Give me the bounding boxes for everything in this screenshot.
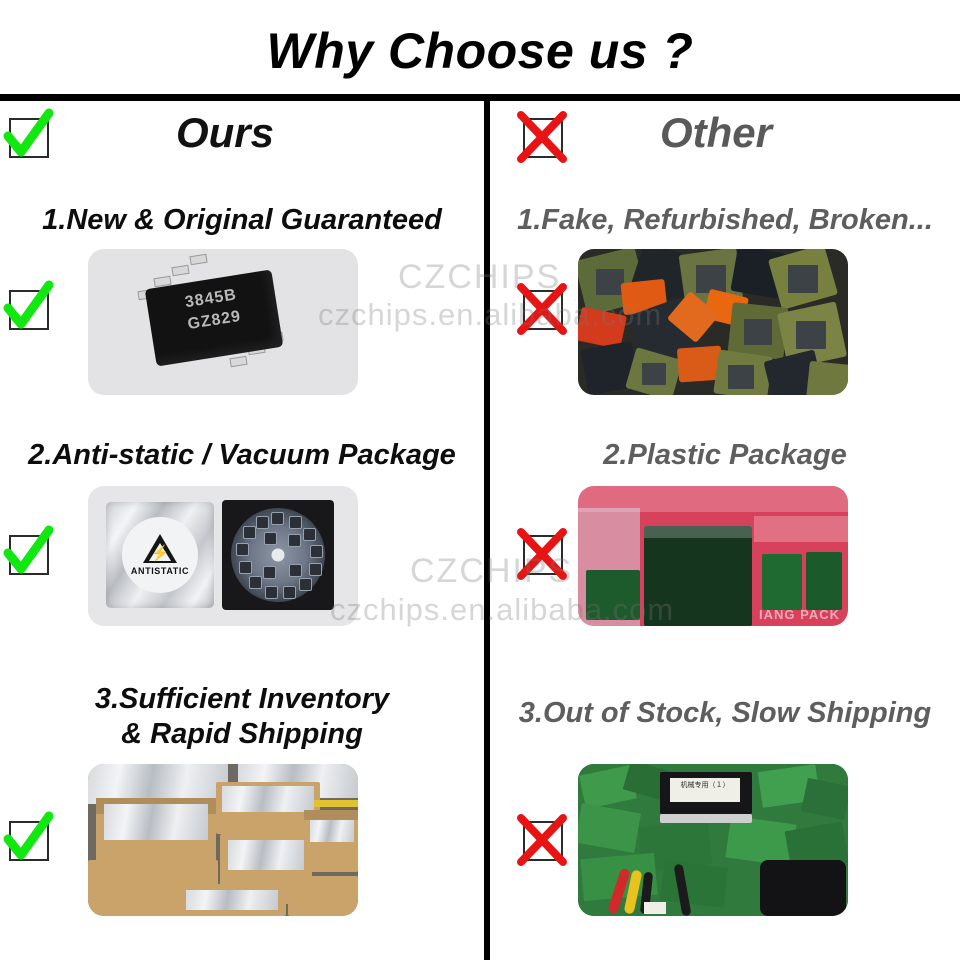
cross-glyph [516, 283, 568, 335]
antistatic-bag: ⚡ ANTISTATIC [106, 502, 214, 608]
ours-item-3-line-1: 3.Sufficient Inventory [0, 683, 484, 715]
check-glyph [2, 111, 54, 163]
top-divider-rule [0, 94, 960, 101]
photo-genuine-chip: 3845B GZ829 [88, 249, 358, 395]
photo-inventory-boxes [88, 764, 358, 916]
module-label: 机械专用（１） [670, 778, 740, 802]
photo-scrap-chips [578, 249, 848, 395]
check-glyph [2, 283, 54, 335]
cross-mark-icon [516, 283, 568, 335]
comparison-infographic: Why Choose us ? Ours 1.New & Original Gu… [0, 0, 960, 960]
check-glyph [2, 814, 54, 866]
check-mark-icon [2, 283, 54, 335]
check-mark-icon [2, 814, 54, 866]
cross-glyph [516, 528, 568, 580]
column-heading-ours: Ours [0, 109, 484, 157]
package-print-text: IANG PACK [759, 607, 840, 622]
photo-scrap-pcbs: 机械专用（１） [578, 764, 848, 916]
cross-mark-icon [516, 111, 568, 163]
other-item-3-text: 3.Out of Stock, Slow Shipping [490, 697, 960, 729]
reel-disc [231, 508, 325, 602]
page-title: Why Choose us ? [0, 22, 960, 80]
antistatic-caption: ANTISTATIC [131, 566, 189, 576]
ours-item-1-text: 1.New & Original Guaranteed [0, 204, 484, 236]
photo-plastic-package: IANG PACK [578, 486, 848, 626]
other-item-1-text: 1.Fake, Refurbished, Broken... [490, 204, 960, 236]
other-item-2-text: 2.Plastic Package [490, 439, 960, 471]
check-glyph [2, 528, 54, 580]
cross-mark-icon [516, 528, 568, 580]
check-mark-icon [2, 111, 54, 163]
cross-glyph [516, 814, 568, 866]
reel-hub [272, 549, 285, 562]
lightning-bolt-icon: ⚡ [151, 546, 170, 561]
cross-mark-icon [516, 814, 568, 866]
antistatic-label: ⚡ ANTISTATIC [122, 517, 198, 593]
column-other: Other 1.Fake, Refurbished, Broken... [490, 101, 960, 960]
ours-item-3-line-2: & Rapid Shipping [0, 718, 484, 750]
photo-antistatic-package: ⚡ ANTISTATIC [88, 486, 358, 626]
ours-item-2-text: 2.Anti-static / Vacuum Package [0, 439, 484, 471]
cross-glyph [516, 111, 568, 163]
check-mark-icon [2, 528, 54, 580]
component-reel [222, 500, 334, 610]
black-module: 机械专用（１） [660, 772, 752, 814]
column-ours: Ours 1.New & Original Guaranteed [0, 101, 484, 960]
